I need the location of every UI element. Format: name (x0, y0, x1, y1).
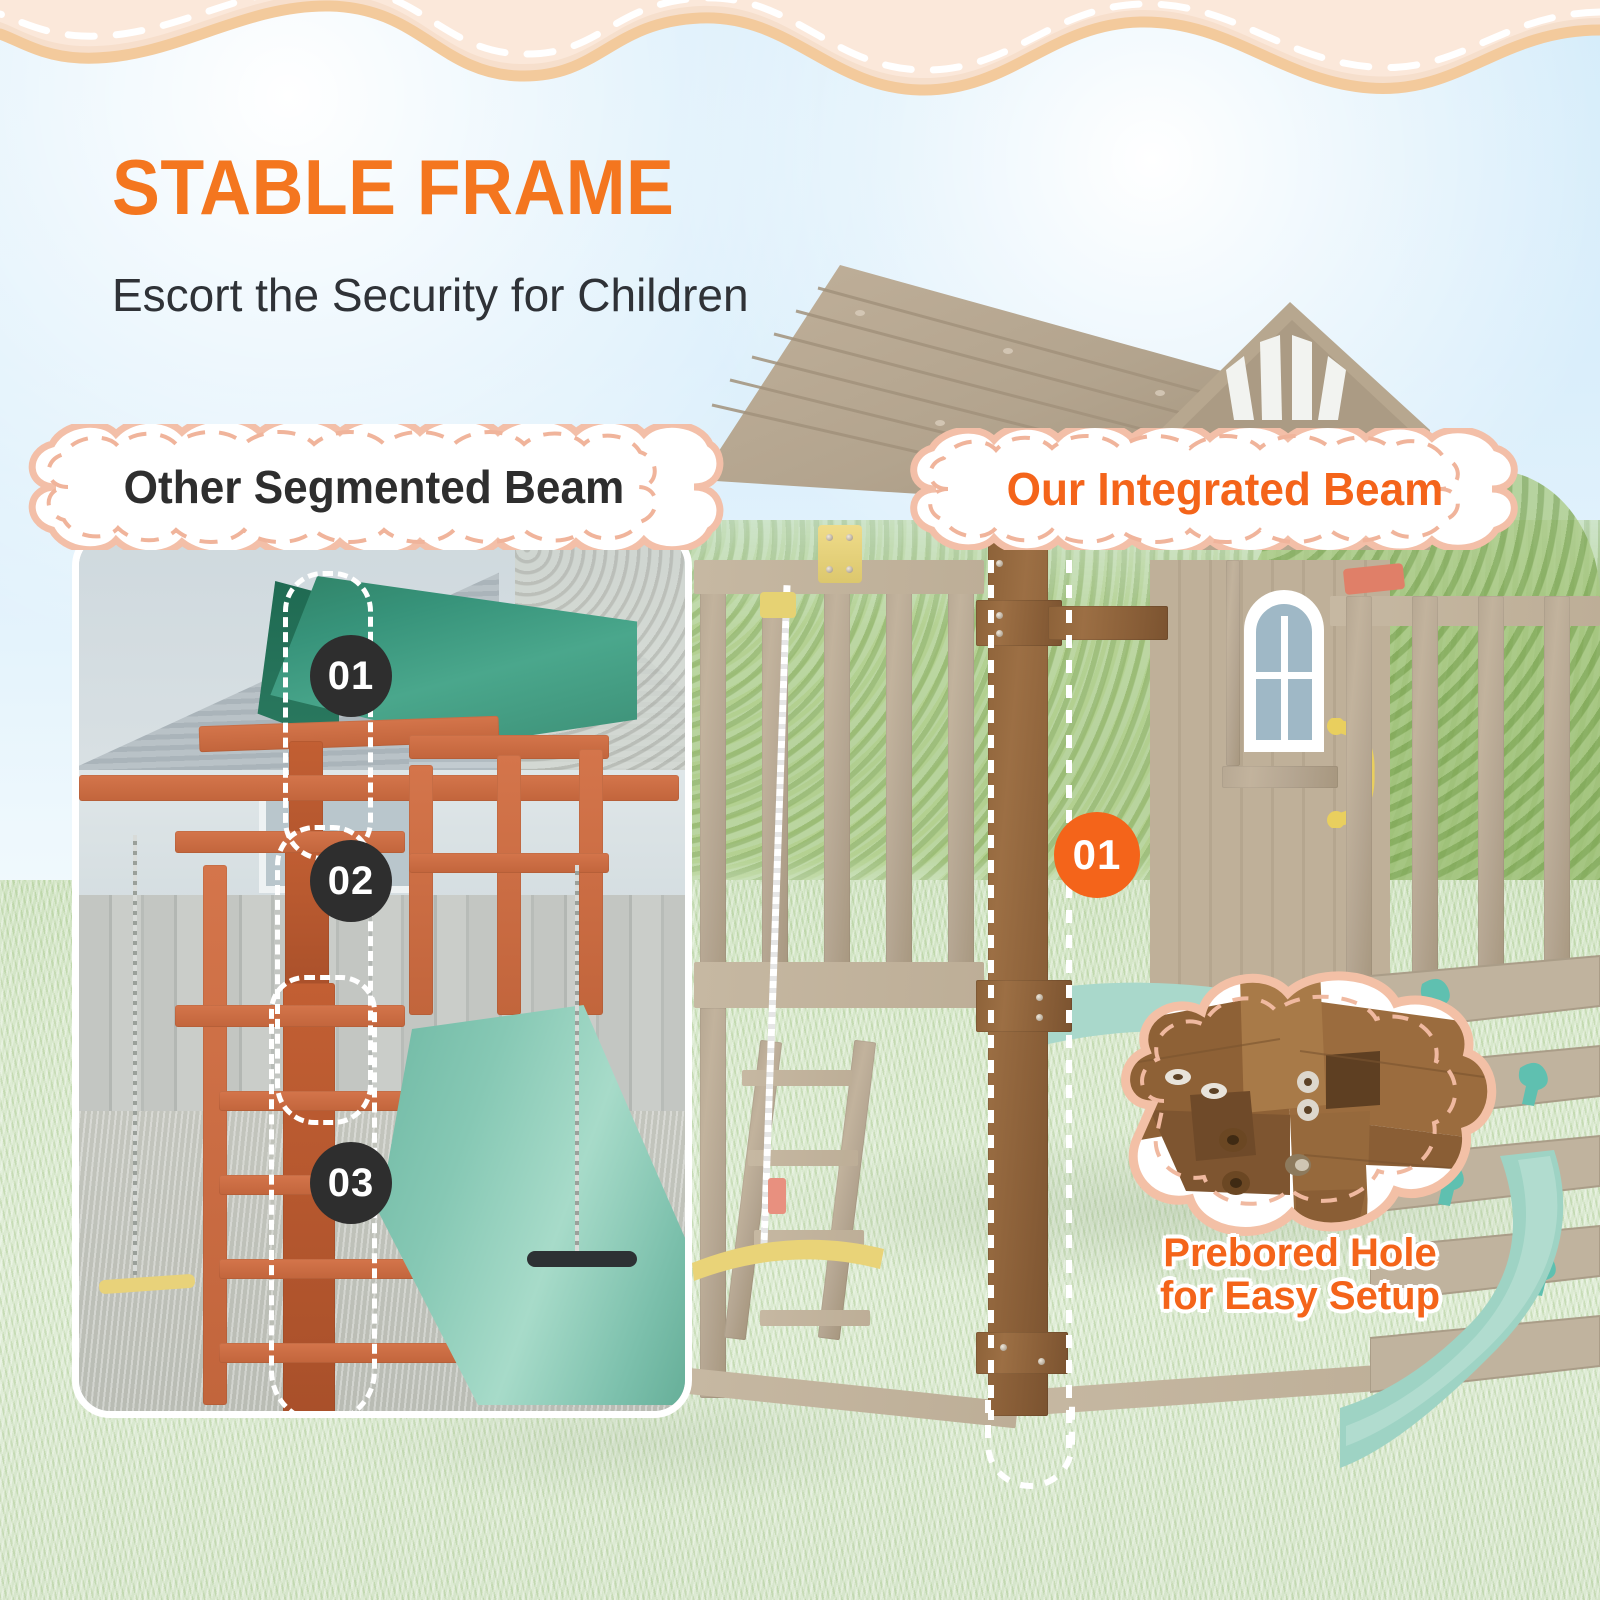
tower-deck-rail (694, 962, 984, 1008)
playhouse-window (1238, 576, 1330, 766)
segment-badge-03-label: 03 (328, 1161, 375, 1206)
window-sill (1222, 766, 1338, 788)
integrated-badge-01: 01 (1054, 812, 1140, 898)
prebored-hole-caption: Prebored Hole for Easy Setup (1100, 1232, 1500, 1318)
segment-badge-02: 02 (310, 840, 392, 922)
swing-hanger (760, 592, 796, 618)
prebored-hole-inset (1090, 955, 1510, 1265)
frame-rail-right-2 (409, 853, 609, 873)
top-wave-banner (0, 0, 1600, 130)
frame-post-right-c (579, 749, 603, 1015)
yellow-bracket (818, 525, 862, 583)
swing-seat (688, 1215, 888, 1295)
right-slat-2 (1412, 596, 1438, 996)
integrated-badge-01-label: 01 (1073, 831, 1122, 879)
swing-seat-right (527, 1251, 637, 1267)
frame-post-right-a (409, 765, 433, 1015)
page-subtitle: Escort the Security for Children (112, 268, 749, 322)
segment-badge-01-label: 01 (328, 654, 375, 699)
our-integrated-beam-bubble: Our Integrated Beam (898, 428, 1552, 550)
swing-chain-right (575, 865, 579, 1265)
frame-post-left (203, 865, 227, 1405)
tower-leg-left (700, 1008, 726, 1398)
other-segmented-beam-label: Other Segmented Beam (30, 424, 717, 550)
tower-slat-2 (824, 560, 850, 980)
segment-badge-03: 03 (310, 1142, 392, 1224)
tower-slat-3 (886, 560, 912, 980)
right-slat-4 (1544, 596, 1570, 996)
our-integrated-beam-label: Our Integrated Beam (911, 428, 1539, 550)
frame-post-right-b (497, 755, 521, 1015)
segment-badge-02-label: 02 (328, 859, 375, 904)
integrated-beam (988, 536, 1048, 1416)
other-segmented-beam-bubble: Other Segmented Beam (16, 424, 732, 550)
ladder-step-4 (760, 1310, 870, 1326)
swing-chain-left (133, 835, 137, 1275)
window-trim-left (1226, 560, 1240, 766)
segment-badge-01: 01 (310, 635, 392, 717)
beam-outline-bottom-cap (982, 1400, 1078, 1490)
beam-outline-left (988, 560, 994, 1420)
right-slat-3 (1478, 596, 1504, 996)
swing-rope-clamp (768, 1178, 786, 1214)
right-slat-1 (1346, 596, 1372, 996)
beam-outline-right (1066, 560, 1072, 1460)
product-infographic: STABLE FRAME Escort the Security for Chi… (0, 0, 1600, 1600)
page-title: STABLE FRAME (112, 150, 674, 224)
ladder-step-1 (742, 1070, 852, 1086)
tower-slat-4 (948, 560, 974, 980)
